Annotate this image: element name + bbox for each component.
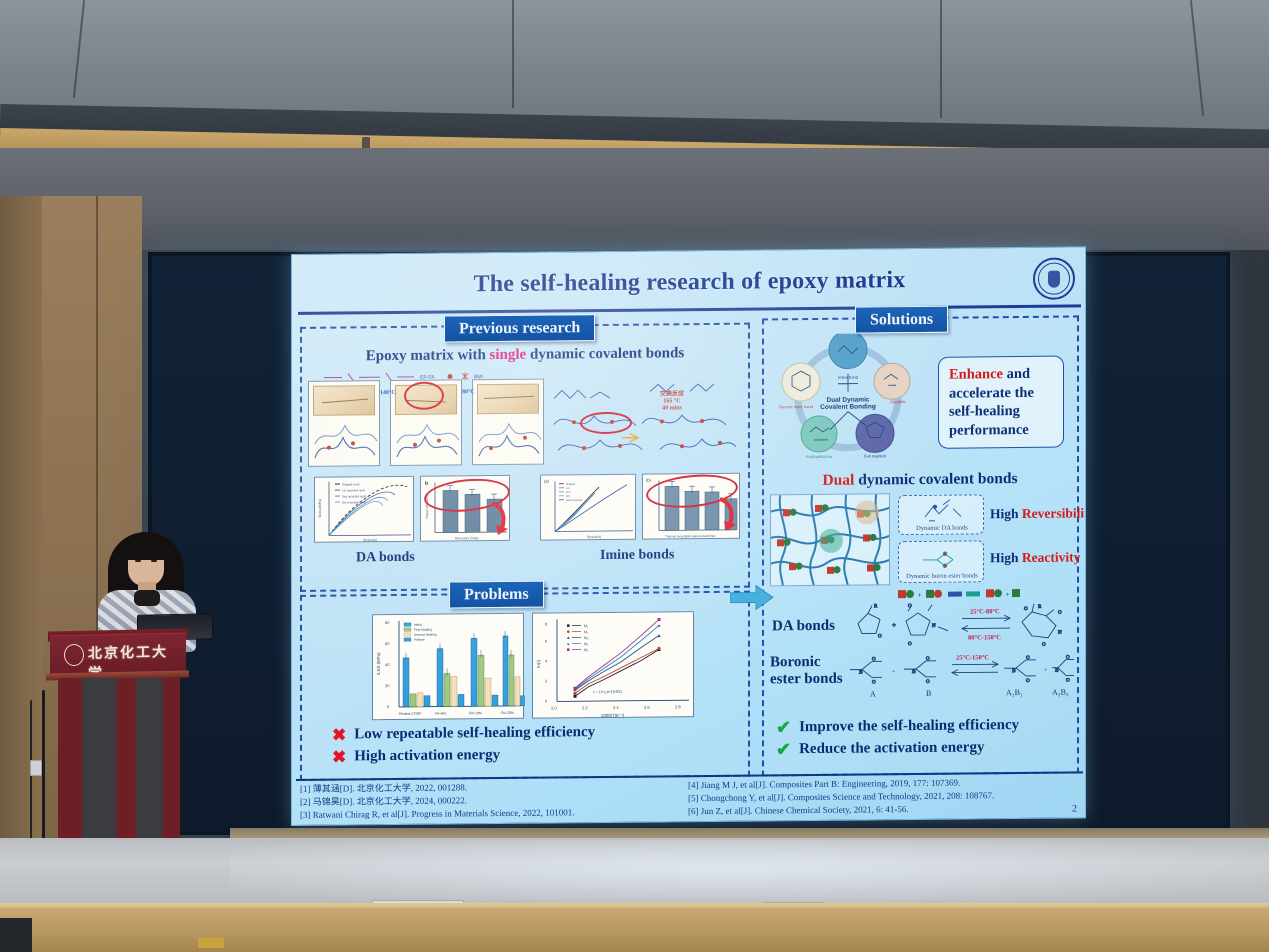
heading-post: dynamic covalent bonds [526, 345, 684, 363]
minicard-boron-ester-caption: Dynamic boron ester bonds [899, 572, 985, 580]
callout-line4: performance [949, 420, 1053, 440]
svg-text:2nd recycled resin: 2nd recycled resin [342, 494, 367, 498]
svg-text:O: O [1026, 679, 1030, 684]
reference-item: [6] Jun Z, et al[J]. Chinese Chemical So… [688, 801, 1048, 817]
svg-text:N: N [1058, 631, 1062, 636]
svg-text:2.8: 2.8 [675, 704, 681, 709]
svg-text:M₃: M₃ [584, 636, 589, 640]
banner-solutions: Solutions [855, 306, 948, 334]
svg-text:3rd recycled resin: 3rd recycled resin [342, 500, 366, 504]
property-value: Reactivity [1022, 549, 1080, 565]
figure-polymer-network [770, 493, 890, 586]
cross-icon: ✖ [332, 748, 346, 765]
svg-text:τ = (1/τ₀)e^(E/RT): τ = (1/τ₀)e^(E/RT) [593, 689, 623, 694]
svg-text:B: B [912, 669, 916, 675]
check-icon: ✔ [776, 718, 791, 736]
reaction-scheme-da: R O + O N O O R [852, 599, 1076, 651]
check-icon: ✔ [776, 740, 791, 758]
svg-text:Disulfide: Disulfide [890, 399, 906, 404]
solution-bullet-1: ✔ Improve the self-healing efficiency [776, 716, 1019, 736]
svg-text:R: R [874, 604, 878, 609]
svg-text:6: 6 [545, 639, 548, 644]
boronic-label-line1: Boronic [770, 654, 843, 671]
svg-text:1000/T(K⁻¹): 1000/T(K⁻¹) [601, 713, 625, 718]
title-divider [298, 304, 1081, 315]
label-imine-bonds: Imine bonds [600, 547, 674, 564]
svg-text:M₂: M₂ [584, 630, 589, 634]
svg-text:O: O [926, 680, 930, 685]
figure-imine-scheme [550, 371, 740, 465]
transition-arrow-icon [730, 584, 774, 610]
slide-page-number: 2 [1072, 803, 1077, 814]
chart-da-stress-strain: Original resin 1st recycled resin 2nd re… [314, 476, 414, 543]
svg-text:R: R [1038, 605, 1042, 610]
svg-text:2.6: 2.6 [644, 705, 650, 710]
svg-text:+: + [1006, 592, 1010, 598]
svg-text:+: + [1044, 668, 1048, 674]
solution-bullet-2: ✔ Reduce the activation energy [776, 738, 984, 758]
svg-text:B: B [859, 670, 863, 676]
minicard-dynamic-da-caption: Dynamic DA bonds [899, 524, 985, 532]
wall-outlet [30, 760, 42, 776]
svg-text:M₄: M₄ [584, 642, 589, 646]
heading-highlight: single [490, 347, 527, 363]
svg-text:(a): (a) [544, 479, 550, 484]
problem-bullet-2: ✖ High activation energy [332, 747, 500, 766]
university-crest-icon [64, 644, 84, 666]
chart-problems-ilss: 020 406080 ILSS (MPa) [372, 613, 524, 720]
svg-text:1st: 1st [566, 486, 570, 490]
label-da-bonds-reaction: DA bonds [772, 618, 835, 635]
dual-heading-highlight: Dual [822, 472, 854, 489]
problem-bullet-1-text: Low repeatable self-healing efficiency [354, 724, 595, 743]
heading-pre: Epoxy matrix with [366, 347, 490, 364]
problem-bullet-2-text: High activation energy [354, 747, 500, 765]
svg-text:2.0: 2.0 [551, 705, 557, 710]
svg-text:Recovery times: Recovery times [455, 536, 479, 540]
svg-text:2: 2 [545, 679, 548, 684]
svg-text:O: O [926, 657, 930, 662]
svg-text:1st recycled resin: 1st recycled resin [342, 488, 366, 492]
svg-text:8: 8 [545, 622, 548, 627]
problem-bullet-1: ✖ Low repeatable self-healing efficiency [332, 724, 595, 744]
svg-text:Second Healing: Second Healing [414, 633, 437, 637]
svg-text:Pristine: Pristine [414, 638, 425, 642]
banner-previous-research: Previous research [444, 314, 595, 342]
presenter-collar [134, 590, 160, 606]
presentation-slide: The self-healing research of epoxy matri… [291, 246, 1086, 826]
svg-text:Stress(MPa): Stress(MPa) [318, 499, 322, 518]
svg-text:Boronic ester bond: Boronic ester bond [779, 404, 813, 409]
references-left-column: [1] 薄其涵[D]. 北京化工大学, 2022, 001288. [2] 马锦… [300, 779, 690, 821]
boronic-letter-a2b2: A₂B₂ [1052, 688, 1069, 697]
presenter-fringe [123, 534, 169, 560]
presenter-eye [135, 560, 141, 562]
figure-healing-cube-3 [472, 379, 544, 466]
minicard-dynamic-boron-ester-bonds: Dynamic boron ester bonds [898, 540, 984, 583]
svg-text:0: 0 [545, 699, 548, 704]
svg-text:+: + [918, 593, 922, 599]
svg-text:B: B [1012, 668, 1016, 674]
solutions-callout: Enhance and accelerate the self-healing … [938, 356, 1064, 449]
svg-text:FA=13%: FA=13% [469, 711, 482, 715]
label-da-bonds: DA bonds [356, 550, 415, 567]
references-right-column: [4] Jiang M J, et al[J]. Composites Part… [688, 776, 1048, 818]
svg-text:O: O [878, 634, 882, 639]
banner-problems: Problems [449, 581, 544, 609]
svg-text:O: O [1058, 611, 1062, 616]
floor-equipment-box [0, 918, 32, 952]
svg-text:M₁: M₁ [584, 624, 589, 628]
label-boronic-ester-bonds: Boronic ester bonds [770, 654, 843, 688]
slide-title: The self-healing research of epoxy matri… [292, 265, 1086, 300]
svg-text:3rd: 3rd [566, 494, 570, 498]
svg-text:N: N [932, 624, 936, 629]
svg-text:2nd: 2nd [566, 490, 571, 494]
svg-text:+: + [892, 621, 896, 629]
svg-text:ILSS (MPa): ILSS (MPa) [376, 652, 381, 675]
svg-text:O: O [908, 642, 912, 647]
svg-text:D-A reaction: D-A reaction [864, 453, 886, 458]
left-wall-wood-panel-edge [0, 196, 42, 886]
svg-text:+: + [892, 669, 896, 675]
svg-text:Pristine-CF/EP: Pristine-CF/EP [399, 712, 422, 716]
dual-dynamic-bond-wheel: Dual Dynamic Covalent Bonding Imine bond… [774, 333, 922, 462]
dual-bonds-heading: Dual dynamic covalent bonds [770, 470, 1070, 491]
boronic-label-line2: ester bonds [770, 671, 843, 688]
svg-text:O: O [1066, 679, 1070, 684]
svg-text:20: 20 [385, 683, 390, 688]
lecture-hall-photo: The self-healing research of epoxy matri… [0, 0, 1269, 952]
boronic-letter-a: A [870, 689, 876, 698]
figure-healing-cube-1 [308, 380, 380, 467]
svg-text:Covalent Bonding: Covalent Bonding [820, 403, 876, 411]
floor-marker [198, 938, 224, 948]
svg-text:O: O [908, 604, 912, 609]
svg-text:O: O [1066, 656, 1070, 661]
cross-icon: ✖ [332, 726, 346, 743]
university-emblem-icon [1033, 257, 1075, 299]
svg-text:O: O [872, 657, 876, 662]
chart-imine-stress-strain: (a) Original 1st 2nd 3rd Re-processed St… [540, 474, 636, 541]
callout-highlight: Enhance [949, 366, 1003, 383]
bond-legend-strip: + + [896, 586, 1026, 601]
svg-text:Initial: Initial [414, 623, 422, 627]
presenter-eye [151, 560, 157, 562]
svg-text:Original: Original [566, 482, 575, 486]
property-high-reactivity: High Reactivity [990, 549, 1080, 566]
svg-text:0: 0 [387, 704, 390, 709]
svg-text:ln(τ): ln(τ) [536, 659, 541, 668]
svg-text:60: 60 [385, 641, 390, 646]
minicard-dynamic-da-bonds: Dynamic DA bonds [898, 494, 984, 535]
svg-text:Strain(%): Strain(%) [363, 538, 377, 542]
svg-text:B: B [1055, 668, 1059, 674]
svg-text:Acylhydrazone: Acylhydrazone [806, 454, 833, 459]
svg-text:b: b [425, 481, 428, 487]
red-trend-arrow-da [488, 501, 512, 535]
red-trend-arrow-imine [716, 497, 740, 531]
temp-label-140c: 140°C [380, 390, 396, 396]
svg-text:Strain(%): Strain(%) [587, 535, 601, 539]
property-value: Reversibility [1022, 505, 1086, 521]
callout-line3: self-healing [949, 402, 1053, 422]
property-prefix: High [990, 550, 1022, 565]
callout-line2: accelerate the [949, 383, 1053, 403]
boronic-letter-b: B [926, 689, 931, 698]
svg-text:O: O [872, 680, 876, 685]
svg-text:80: 80 [385, 620, 390, 625]
da-forward-temperature: 25°C-80°C [970, 608, 1000, 615]
svg-text:First Healing: First Healing [414, 628, 432, 632]
svg-text:O: O [1042, 643, 1046, 648]
chart-problems-arrhenius: 024 68 2.02.22.4 2.62.8 ln(τ) 1000/T(K⁻¹… [532, 611, 694, 719]
svg-text:Imine bond: Imine bond [838, 375, 858, 380]
boronic-letter-a1b1: A₁B₁ [1006, 688, 1023, 697]
solution-bullet-1-text: Improve the self-healing efficiency [799, 717, 1019, 736]
svg-text:Thermal recyclable reprocessed: Thermal recyclable reprocessed times [665, 534, 716, 538]
svg-text:O: O [1024, 607, 1028, 612]
ceiling-seam [512, 0, 514, 108]
svg-text:O: O [1026, 656, 1030, 661]
svg-text:FA=20%: FA=20% [501, 711, 514, 715]
reaction-note: 交换反应 165 °C 40 mins [660, 391, 684, 413]
svg-text:Re-processed: Re-processed [566, 498, 583, 502]
stage-front-panel [0, 908, 1269, 952]
svg-text:FA=6%: FA=6% [435, 712, 446, 716]
callout-line1-rest: and [1003, 366, 1030, 382]
svg-text:Original resin: Original resin [342, 482, 360, 486]
da-reverse-temperature: 80°C-150°C [968, 634, 1001, 641]
svg-text:(b): (b) [646, 478, 652, 483]
ceiling-seam [940, 0, 942, 118]
svg-text:40: 40 [385, 662, 390, 667]
dual-heading-rest: dynamic covalent bonds [854, 470, 1017, 489]
molecule-key-row: EP-FA BMI [322, 367, 512, 379]
boronic-temperature: 25°C-150°C [956, 654, 989, 661]
svg-text:M₅: M₅ [584, 648, 589, 652]
solution-bullet-2-text: Reduce the activation energy [799, 739, 984, 758]
temp-label-80c: 80°C [462, 389, 475, 395]
svg-text:4: 4 [545, 659, 548, 664]
property-high-reversibility: High Reversibility [990, 505, 1086, 522]
property-prefix: High [990, 506, 1022, 521]
svg-text:2.2: 2.2 [582, 705, 588, 710]
svg-text:2.4: 2.4 [613, 705, 619, 710]
